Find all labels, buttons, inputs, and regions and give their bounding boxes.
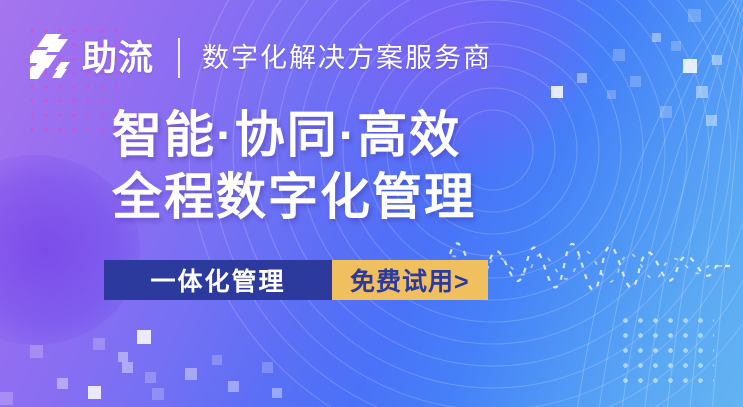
decor-square bbox=[30, 345, 43, 358]
integrated-management-button[interactable]: 一体化管理 bbox=[104, 260, 332, 300]
decor-square bbox=[57, 378, 68, 389]
brand-name: 助流 bbox=[82, 41, 154, 76]
decor-square bbox=[660, 106, 672, 118]
decor-square bbox=[88, 386, 101, 399]
decor-square bbox=[137, 330, 151, 344]
lightning-bolt-logo-icon bbox=[30, 33, 76, 83]
decor-square bbox=[145, 372, 156, 383]
decor-square bbox=[152, 388, 164, 400]
free-trial-button[interactable]: 免费试用> bbox=[332, 260, 488, 300]
decor-square bbox=[122, 362, 133, 373]
cta-row: 一体化管理 免费试用> bbox=[104, 260, 488, 300]
decor-square bbox=[0, 392, 13, 405]
decor-square bbox=[671, 41, 681, 51]
promo-banner: 助流 数字化解决方案服务商 智能·协同·高效 全程数字化管理 一体化管理 免费试… bbox=[0, 0, 743, 407]
headline-line-1: 智能·协同·高效 bbox=[112, 104, 476, 166]
brand-divider bbox=[178, 38, 180, 78]
decor-square bbox=[706, 115, 717, 126]
headline-block: 智能·协同·高效 全程数字化管理 bbox=[112, 104, 476, 228]
decor-square bbox=[228, 381, 239, 392]
decor-square bbox=[688, 9, 701, 22]
decor-square bbox=[652, 33, 661, 42]
decor-square bbox=[683, 59, 697, 73]
decor-square bbox=[185, 368, 197, 380]
decor-square bbox=[118, 352, 128, 362]
decor-square bbox=[630, 76, 641, 87]
decor-square bbox=[613, 49, 625, 61]
decor-square bbox=[262, 362, 273, 373]
brand-header: 助流 数字化解决方案服务商 bbox=[30, 30, 492, 86]
decor-square bbox=[272, 388, 282, 398]
decor-square bbox=[212, 355, 222, 365]
decor-square bbox=[577, 73, 587, 83]
decor-square bbox=[93, 338, 105, 350]
blue-dot-grid bbox=[618, 313, 714, 389]
brand-tagline: 数字化解决方案服务商 bbox=[202, 45, 492, 72]
decor-square bbox=[696, 86, 708, 98]
decor-square bbox=[551, 86, 563, 98]
decor-square bbox=[607, 90, 616, 99]
headline-line-2: 全程数字化管理 bbox=[112, 166, 476, 228]
fan-lines-decoration bbox=[453, 0, 743, 407]
decor-square bbox=[712, 55, 722, 65]
